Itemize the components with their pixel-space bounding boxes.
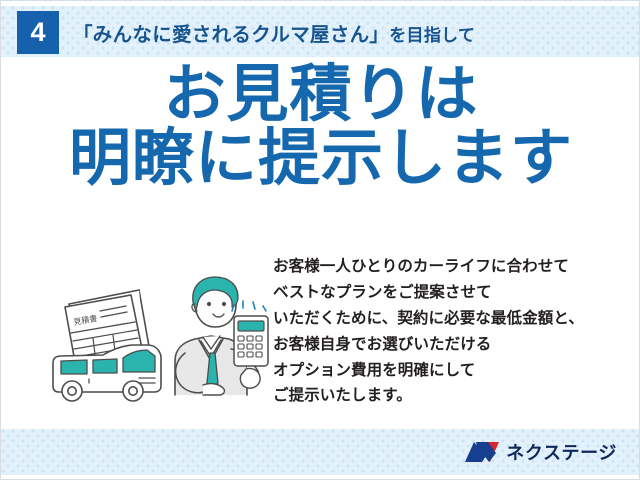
footer-band: ネクステージ — [1, 429, 640, 475]
slide-frame: 4 「みんなに愛されるクルマ屋さん」を目指して お見積りは 明瞭に提示します 見… — [0, 0, 640, 480]
body-line-3: いただくために、契約に必要な最低金額と、 — [273, 306, 633, 332]
header-title-quoted: 「みんなに愛されるクルマ屋さん」 — [73, 24, 389, 46]
header-title-suffix: を目指して — [389, 26, 475, 45]
headline-line-2: 明瞭に提示します — [1, 127, 640, 191]
body-line-2: ベストなプランをご提案させて — [273, 280, 633, 306]
header-divider — [1, 57, 640, 58]
step-number-badge: 4 — [17, 11, 59, 54]
nextage-logo-mark — [465, 441, 499, 463]
body-line-6: ご提示いたします。 — [273, 383, 633, 409]
header-title: 「みんなに愛されるクルマ屋さん」を目指して — [73, 18, 475, 47]
header-band: 4 「みんなに愛されるクルマ屋さん」を目指して — [1, 6, 640, 58]
headline-line-1: お見積りは — [1, 63, 640, 127]
header-content: 4 「みんなに愛されるクルマ屋さん」を目指して — [1, 6, 640, 58]
nextage-logo: ネクステージ — [465, 439, 617, 465]
headline: お見積りは 明瞭に提示します — [1, 63, 640, 191]
nextage-logo-text: ネクステージ — [506, 439, 617, 465]
body-line-4: お客様自身でお選びいただける — [273, 332, 633, 358]
body-line-1: お客様一人ひとりのカーライフに合わせて — [273, 254, 633, 280]
calculator-illustration — [234, 316, 268, 366]
body-line-5: オプション費用を明確にして — [273, 358, 633, 384]
body-copy: お客様一人ひとりのカーライフに合わせて ベストなプランをご提案させて いただくた… — [273, 254, 633, 409]
illustration-salesman-estimate: 見積書 — [43, 257, 271, 425]
van-illustration — [53, 345, 161, 401]
